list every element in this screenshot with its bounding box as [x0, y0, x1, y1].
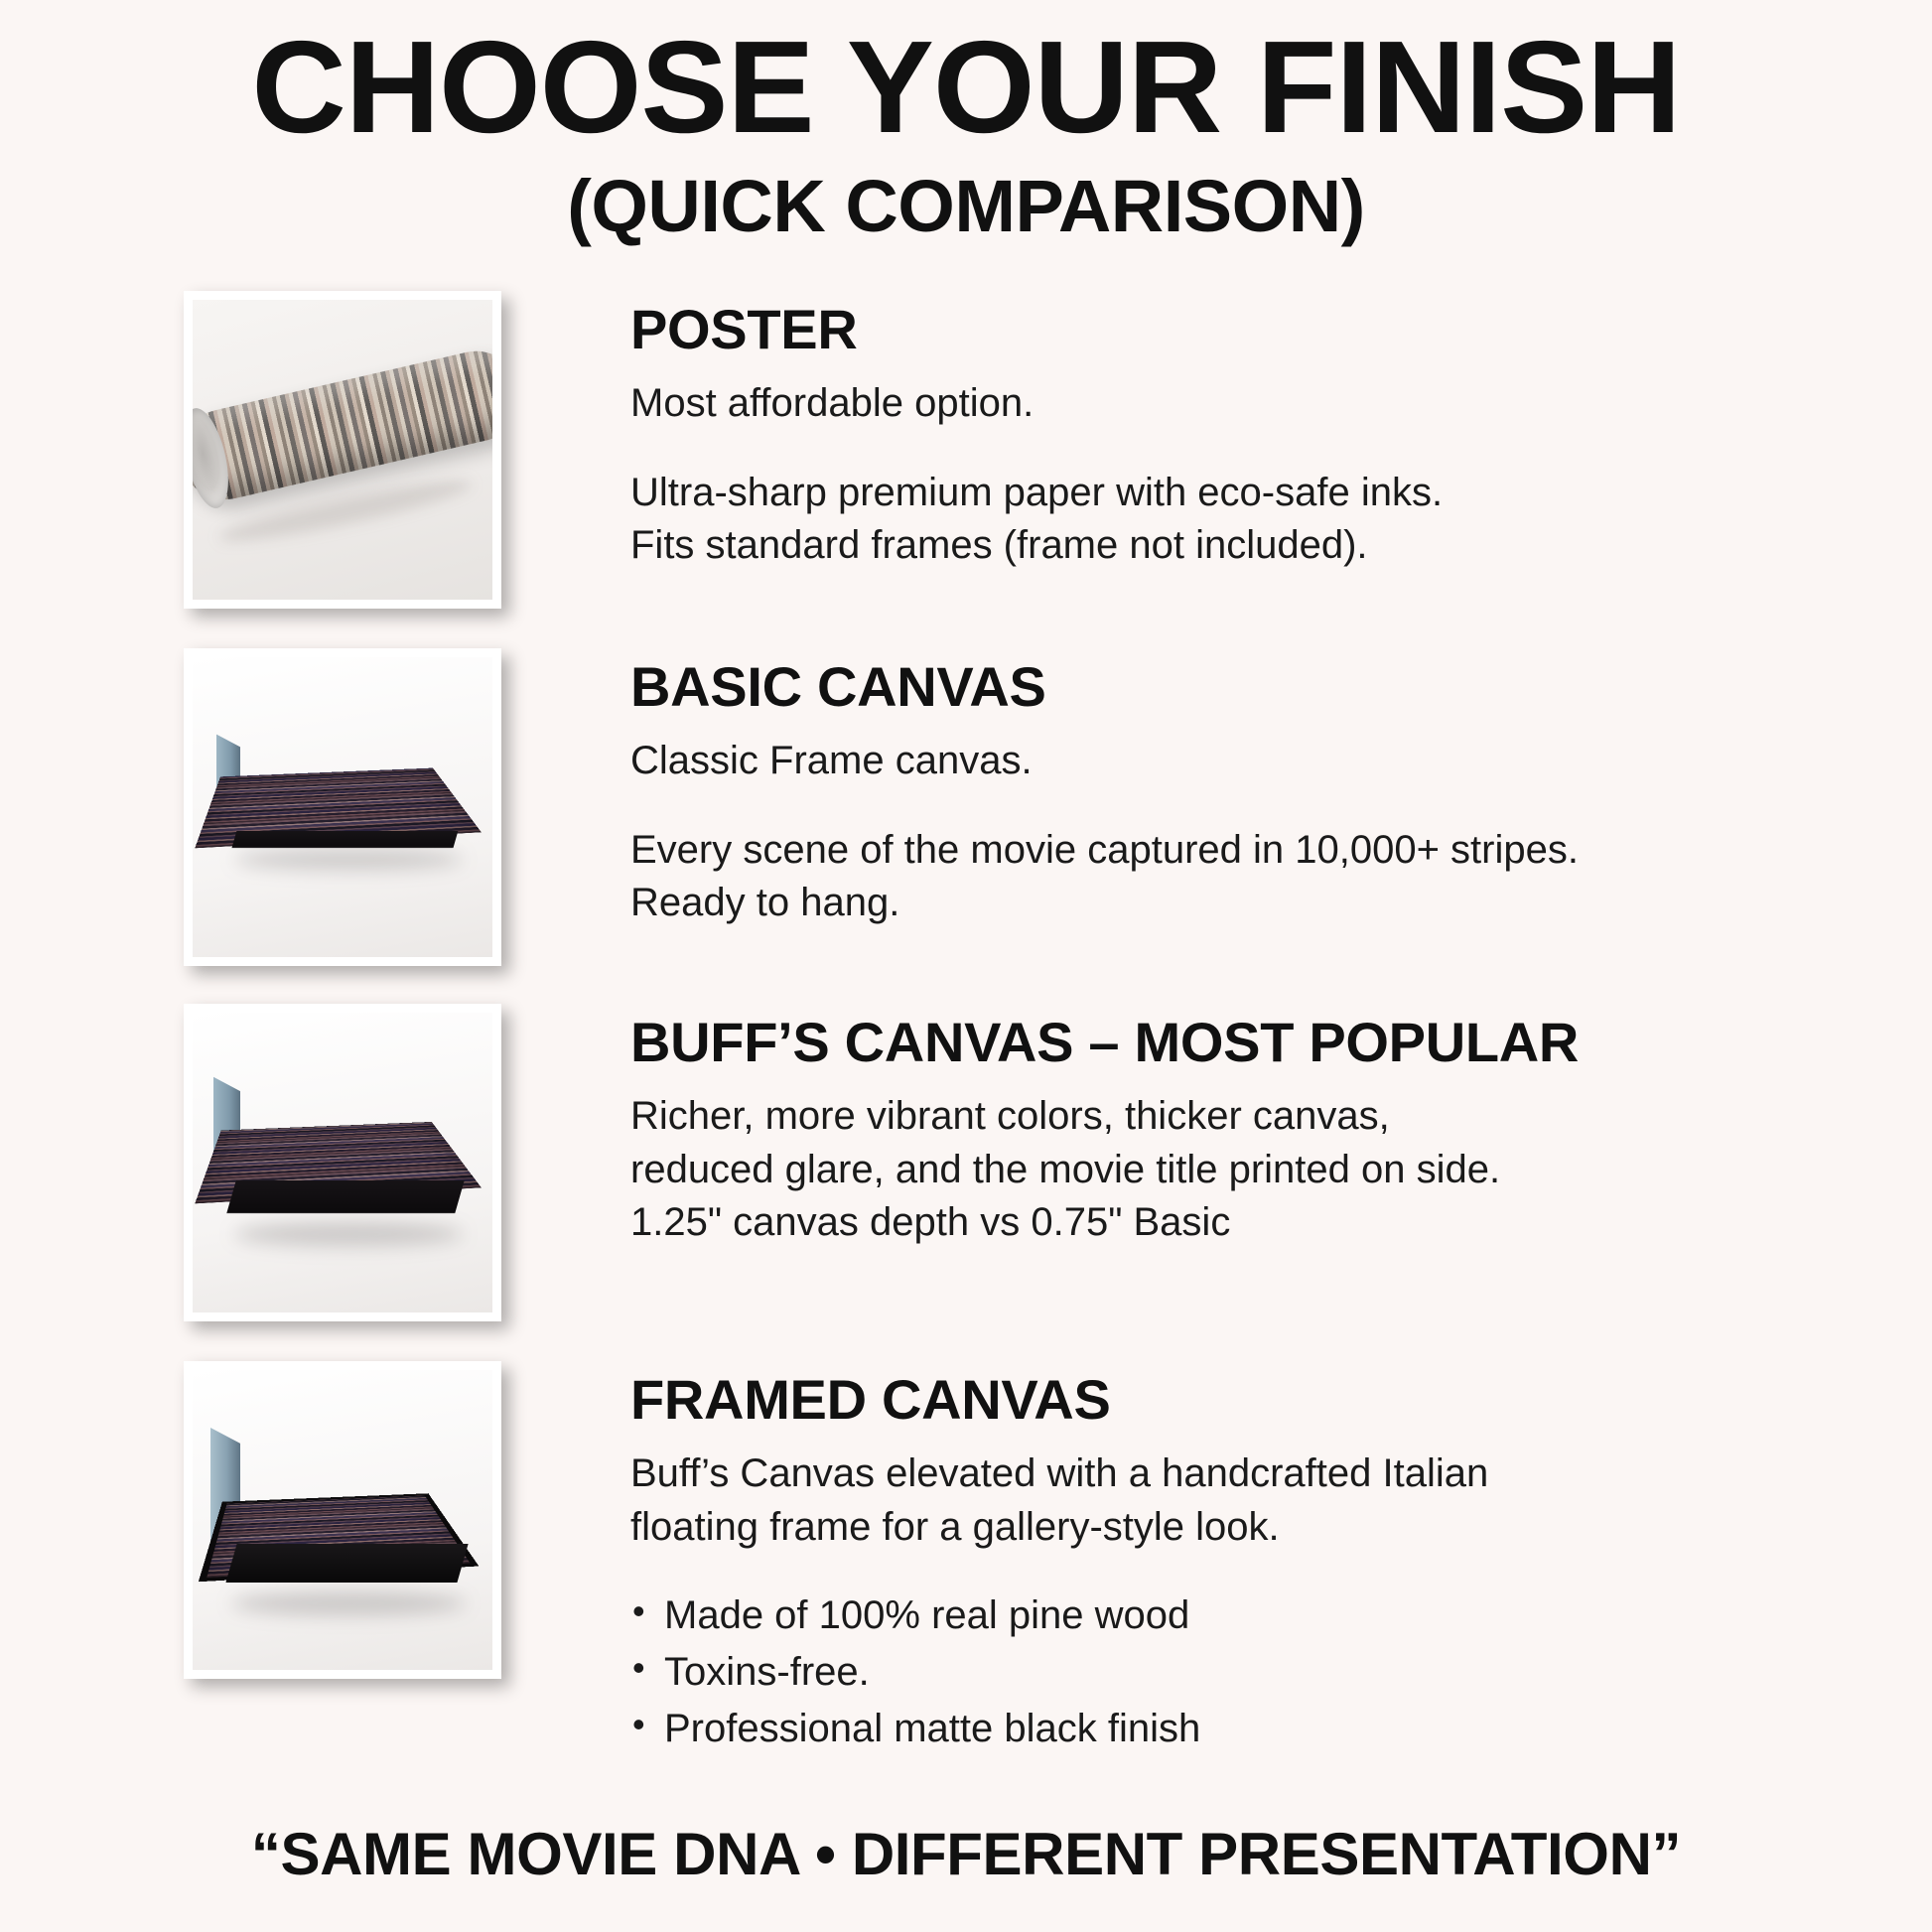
basic-canvas-shadow: [234, 849, 463, 870]
finish-option-buffs-canvas[interactable]: BUFF’S CANVAS – MOST POPULAR Richer, mor…: [0, 1004, 1932, 1361]
poster-lead: Most affordable option.: [630, 377, 1932, 431]
page-title: CHOOSE YOUR FINISH: [0, 18, 1932, 157]
buffs-canvas-body-line-3: 1.25" canvas depth vs 0.75" Basic: [630, 1200, 1230, 1244]
footer-tagline: “SAME MOVIE DNA • DIFFERENT PRESENTATION…: [0, 1820, 1932, 1888]
basic-canvas-image: [193, 657, 492, 957]
basic-canvas-title: BASIC CANVAS: [630, 656, 1932, 718]
poster-body: Ultra-sharp premium paper with eco-safe …: [630, 467, 1932, 573]
finish-option-framed-canvas[interactable]: FRAMED CANVAS Buff’s Canvas elevated wit…: [0, 1361, 1932, 1730]
page-subtitle: (QUICK COMPARISON): [0, 163, 1932, 251]
basic-canvas-lead: Classic Frame canvas.: [630, 735, 1932, 788]
list-item: Made of 100% real pine wood: [630, 1587, 1932, 1644]
poster-roll-image: [193, 300, 492, 600]
basic-canvas-thumbnail-card[interactable]: [184, 648, 501, 966]
framed-canvas-thumbnail-card[interactable]: [184, 1361, 501, 1679]
buffs-canvas-title: BUFF’S CANVAS – MOST POPULAR: [630, 1012, 1932, 1073]
buffs-canvas-front-edge: [226, 1180, 464, 1213]
poster-text-column: POSTER Most affordable option. Ultra-sha…: [501, 291, 1932, 573]
framed-canvas-front-edge: [226, 1544, 469, 1583]
list-item: Toxins-free.: [630, 1644, 1932, 1701]
framed-canvas-title: FRAMED CANVAS: [630, 1369, 1932, 1431]
poster-thumbnail-card[interactable]: [184, 291, 501, 609]
poster-title: POSTER: [630, 299, 1932, 360]
framed-canvas-image: [193, 1370, 492, 1670]
buffs-canvas-body: Richer, more vibrant colors, thicker can…: [630, 1090, 1932, 1250]
finish-option-basic-canvas[interactable]: BASIC CANVAS Classic Frame canvas. Every…: [0, 648, 1932, 1004]
page-header: CHOOSE YOUR FINISH (QUICK COMPARISON): [0, 0, 1932, 251]
finish-option-poster[interactable]: POSTER Most affordable option. Ultra-sha…: [0, 291, 1932, 648]
buffs-canvas-thumbnail-card[interactable]: [184, 1004, 501, 1321]
basic-canvas-text-column: BASIC CANVAS Classic Frame canvas. Every…: [501, 648, 1932, 930]
framed-canvas-bullet-list: Made of 100% real pine wood Toxins-free.…: [630, 1587, 1932, 1756]
basic-canvas-body-line-2: Ready to hang.: [630, 881, 899, 924]
poster-body-line-1: Ultra-sharp premium paper with eco-safe …: [630, 471, 1443, 514]
basic-canvas-body-line-1: Every scene of the movie captured in 10,…: [630, 828, 1579, 872]
framed-canvas-body: Buff’s Canvas elevated with a handcrafte…: [630, 1448, 1932, 1554]
finish-options-list: POSTER Most affordable option. Ultra-sha…: [0, 291, 1932, 1730]
buffs-canvas-image: [193, 1013, 492, 1312]
basic-canvas-body: Every scene of the movie captured in 10,…: [630, 824, 1932, 930]
poster-body-line-2: Fits standard frames (frame not included…: [630, 523, 1368, 567]
buffs-canvas-body-line-2: reduced glare, and the movie title print…: [630, 1148, 1500, 1191]
framed-canvas-body-line-2: floating frame for a gallery-style look.: [630, 1505, 1280, 1549]
basic-canvas-front-edge: [232, 831, 459, 848]
buffs-canvas-text-column: BUFF’S CANVAS – MOST POPULAR Richer, mor…: [501, 1004, 1932, 1250]
framed-canvas-body-line-1: Buff’s Canvas elevated with a handcrafte…: [630, 1451, 1488, 1495]
buffs-canvas-body-line-1: Richer, more vibrant colors, thicker can…: [630, 1094, 1390, 1138]
framed-canvas-text-column: FRAMED CANVAS Buff’s Canvas elevated wit…: [501, 1361, 1932, 1757]
list-item: Professional matte black finish: [630, 1701, 1932, 1757]
